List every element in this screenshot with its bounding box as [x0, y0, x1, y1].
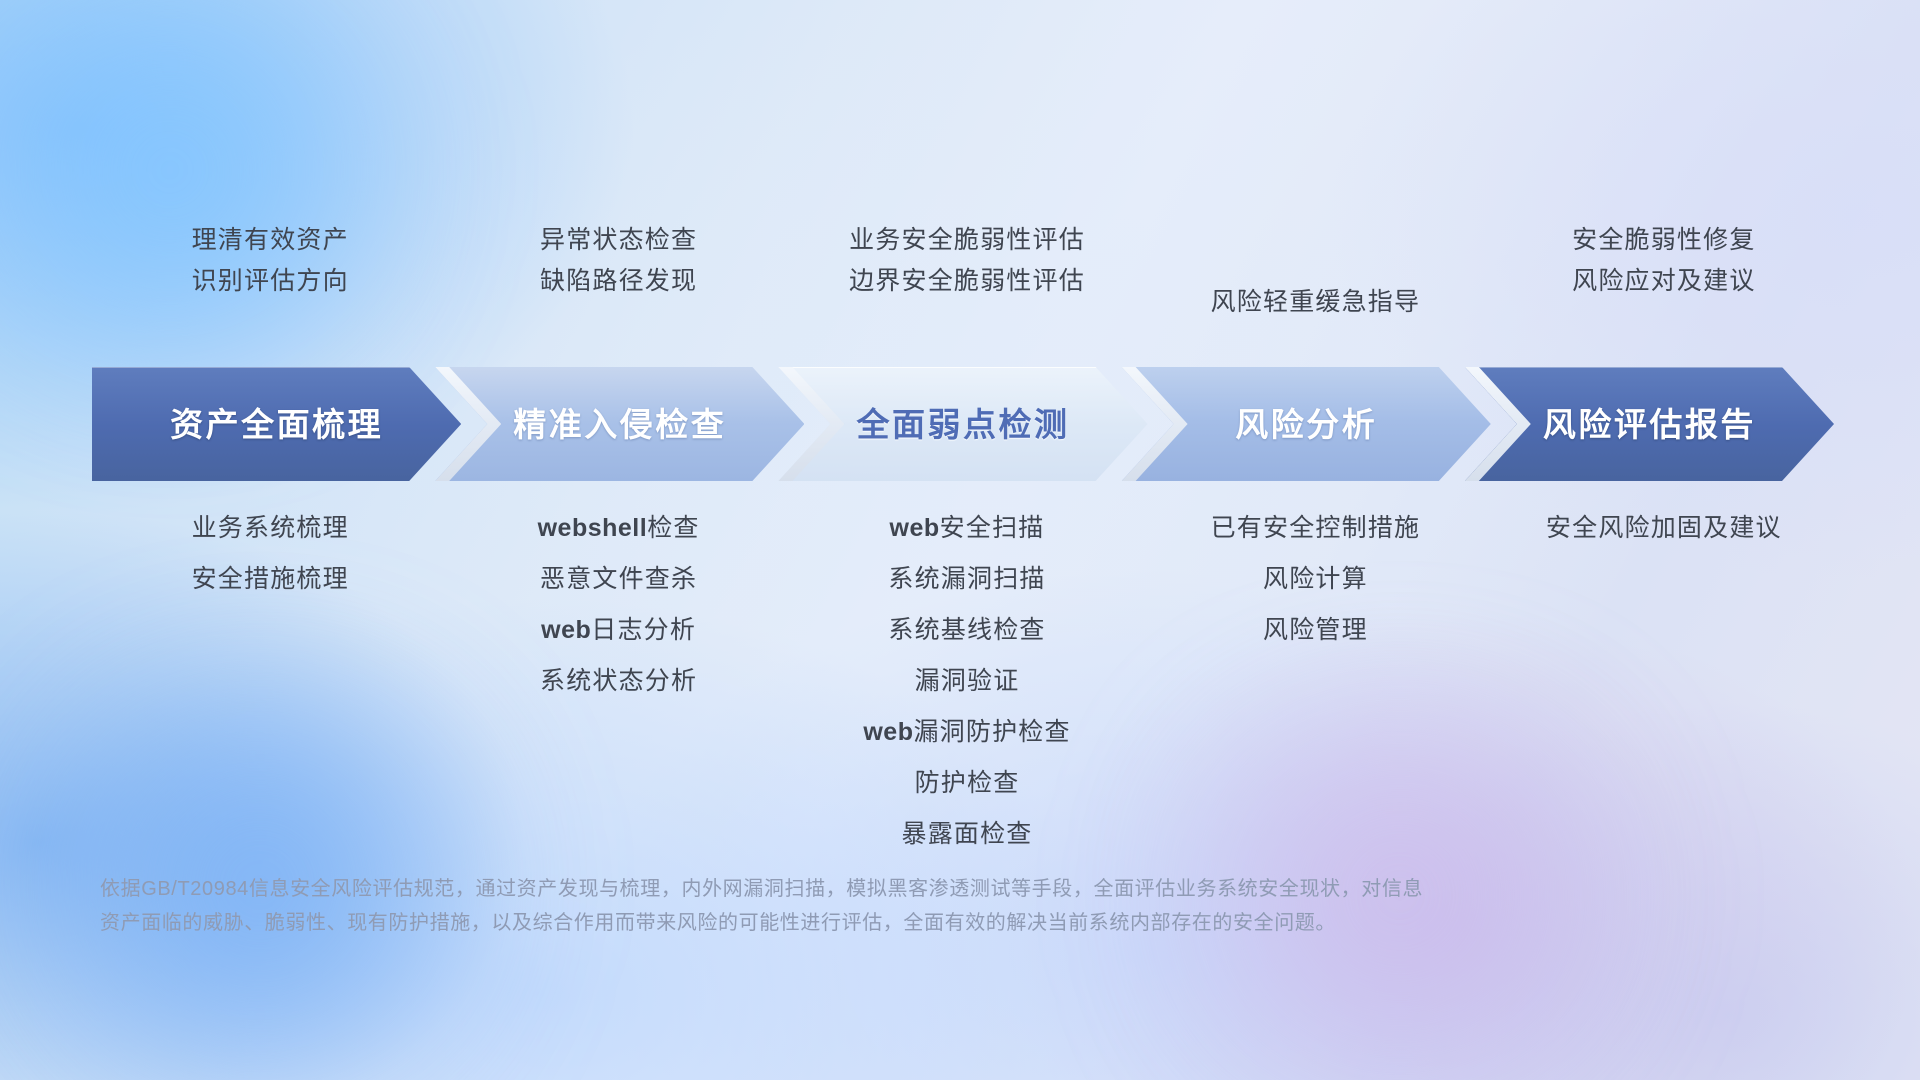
bottom-label-lead: webshell — [538, 514, 648, 542]
bottom-label: 防护检查 — [915, 771, 1020, 796]
stage-title: 风险评估报告 — [1543, 408, 1756, 441]
bottom-label-group-asset-inventory: 业务系统梳理安全措施梳理 — [96, 516, 444, 592]
bottom-label: 安全措施梳理 — [192, 567, 349, 592]
bottom-label-group-risk-report: 安全风险加固及建议 — [1490, 516, 1838, 541]
bottom-label-text: 风险计算 — [1263, 565, 1368, 593]
bottom-label: 系统漏洞扫描 — [888, 567, 1045, 592]
bottom-label-text: 已有安全控制措施 — [1211, 514, 1421, 542]
bottom-label-text: 系统基线检查 — [888, 616, 1045, 644]
bottom-label: 系统状态分析 — [540, 669, 697, 694]
stage-chevron-risk-analysis[interactable]: 风险分析 — [1122, 367, 1491, 481]
stage-chevron-asset-inventory[interactable]: 资产全面梳理 — [92, 367, 461, 481]
bottom-label-lead: web — [541, 616, 591, 644]
bottom-label-group-weakness-detection: web安全扫描系统漏洞扫描系统基线检查漏洞验证web漏洞防护检查防护检查暴露面检… — [793, 516, 1141, 847]
top-label: 识别评估方向 — [192, 269, 349, 294]
top-label: 缺陷路径发现 — [540, 269, 697, 294]
bottom-label-group-risk-analysis: 已有安全控制措施风险计算风险管理 — [1141, 516, 1489, 643]
bottom-label: web日志分析 — [541, 618, 696, 643]
bottom-label: web安全扫描 — [890, 516, 1045, 541]
bottom-label-text: 恶意文件查杀 — [540, 565, 697, 593]
bottom-label-group-intrusion-check: webshell检查恶意文件查杀web日志分析系统状态分析 — [444, 516, 792, 694]
top-label: 风险应对及建议 — [1572, 269, 1755, 294]
bottom-label-text: 系统漏洞扫描 — [888, 565, 1045, 593]
top-label-group-asset-inventory: 理清有效资产识别评估方向 — [96, 222, 444, 342]
bottom-label-text: 日志分析 — [591, 616, 696, 644]
bottom-label: 已有安全控制措施 — [1211, 516, 1421, 541]
bottom-label-row: 业务系统梳理安全措施梳理webshell检查恶意文件查杀web日志分析系统状态分… — [96, 516, 1838, 847]
bottom-label: 安全风险加固及建议 — [1546, 516, 1782, 541]
top-label: 安全脆弱性修复 — [1572, 228, 1755, 253]
bottom-label-text: 安全措施梳理 — [192, 565, 349, 593]
bottom-label: 恶意文件查杀 — [540, 567, 697, 592]
bottom-label-text: 风险管理 — [1263, 616, 1368, 644]
bottom-label-text: 漏洞防护检查 — [913, 718, 1070, 746]
bottom-label-text: 安全风险加固及建议 — [1546, 514, 1782, 542]
top-label: 异常状态检查 — [540, 228, 697, 253]
stage-chevron-intrusion-check[interactable]: 精准入侵检查 — [435, 367, 804, 481]
bottom-label: webshell检查 — [538, 516, 700, 541]
stage-chevron-risk-report[interactable]: 风险评估报告 — [1465, 367, 1834, 481]
top-label-row: 理清有效资产识别评估方向异常状态检查缺陷路径发现业务安全脆弱性评估边界安全脆弱性… — [96, 222, 1838, 342]
top-label-group-weakness-detection: 业务安全脆弱性评估边界安全脆弱性评估 — [793, 222, 1141, 342]
bottom-label: 业务系统梳理 — [192, 516, 349, 541]
stage-title: 风险分析 — [1235, 408, 1377, 441]
bottom-label: 风险计算 — [1263, 567, 1368, 592]
slide-canvas: 理清有效资产识别评估方向异常状态检查缺陷路径发现业务安全脆弱性评估边界安全脆弱性… — [0, 0, 1920, 1080]
bottom-label: web漏洞防护检查 — [863, 720, 1070, 745]
footer-line-1: 依据GB/T20984信息安全风险评估规范，通过资产发现与梳理，内外网漏洞扫描，… — [100, 872, 1660, 906]
top-label-group-intrusion-check: 异常状态检查缺陷路径发现 — [444, 222, 792, 342]
bottom-label-text: 防护检查 — [915, 769, 1020, 797]
bottom-label-text: 暴露面检查 — [902, 820, 1033, 848]
bottom-label-text: 漏洞验证 — [915, 667, 1020, 695]
top-label: 业务安全脆弱性评估 — [849, 228, 1085, 253]
footer-line-2: 资产面临的威胁、脆弱性、现有防护措施，以及综合作用而带来风险的可能性进行评估，全… — [100, 906, 1660, 940]
bottom-label: 暴露面检查 — [902, 822, 1033, 847]
stage-chevron-weakness-detection[interactable]: 全面弱点检测 — [778, 367, 1147, 481]
bottom-label-text: 安全扫描 — [940, 514, 1045, 542]
bottom-label-text: 检查 — [647, 514, 699, 542]
footer-description: 依据GB/T20984信息安全风险评估规范，通过资产发现与梳理，内外网漏洞扫描，… — [100, 872, 1660, 940]
top-label: 边界安全脆弱性评估 — [849, 269, 1085, 294]
bottom-label: 系统基线检查 — [888, 618, 1045, 643]
process-chevron-band: 资产全面梳理精准入侵检查全面弱点检测风险分析风险评估报告 — [92, 367, 1834, 481]
bottom-label-lead: web — [890, 514, 940, 542]
top-label: 风险轻重缓急指导 — [1211, 290, 1421, 315]
stage-title: 资产全面梳理 — [170, 408, 383, 441]
stage-title: 精准入侵检查 — [513, 408, 726, 441]
top-label-group-risk-analysis: 风险轻重缓急指导 — [1141, 222, 1489, 342]
top-label: 理清有效资产 — [192, 228, 349, 253]
top-label-group-risk-report: 安全脆弱性修复风险应对及建议 — [1490, 222, 1838, 342]
bottom-label-text: 系统状态分析 — [540, 667, 697, 695]
bottom-label-lead: web — [863, 718, 913, 746]
stage-title: 全面弱点检测 — [857, 408, 1070, 441]
bottom-label-text: 业务系统梳理 — [192, 514, 349, 542]
bottom-label: 风险管理 — [1263, 618, 1368, 643]
bottom-label: 漏洞验证 — [915, 669, 1020, 694]
